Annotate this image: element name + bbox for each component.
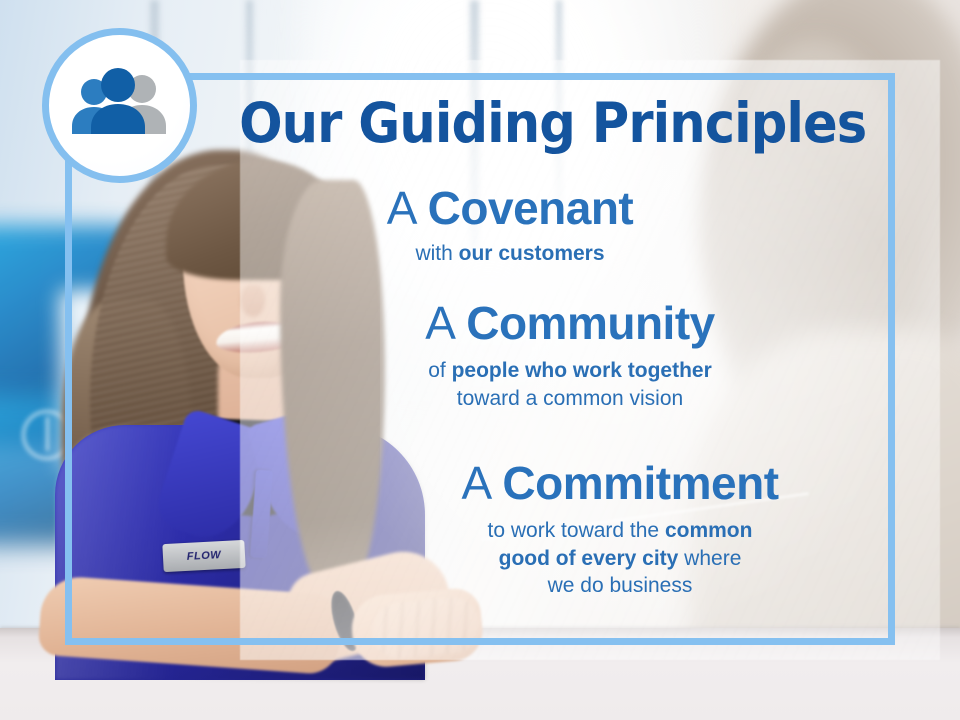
detail-bold: people who work together xyxy=(452,359,712,382)
detail-pre: with xyxy=(415,242,458,265)
poster-canvas: FLOW FLOW xyxy=(0,0,960,720)
poster-text: Our Guiding Principles A Covenant with o… xyxy=(0,0,960,720)
principle-headline: A Community xyxy=(300,300,840,347)
principle-detail: with our customers xyxy=(250,240,770,268)
principle-detail: of people who work together toward a com… xyxy=(300,357,840,412)
detail-bold: common xyxy=(665,519,753,542)
principle-keyword: Commitment xyxy=(502,457,778,509)
principle-keyword: Covenant xyxy=(428,182,634,234)
principle-commitment: A Commitment to work toward the common g… xyxy=(340,460,900,600)
principle-headline: A Covenant xyxy=(250,185,770,232)
detail-pre: to work toward the xyxy=(488,519,665,542)
detail-line2: toward a common vision xyxy=(457,387,683,410)
principle-article: A xyxy=(461,457,502,509)
page-title: Our Guiding Principles xyxy=(239,96,853,151)
detail-line3: we do business xyxy=(548,574,693,597)
principle-keyword: Community xyxy=(466,297,715,349)
principle-article: A xyxy=(387,182,428,234)
detail-bold: our customers xyxy=(459,242,605,265)
principle-covenant: A Covenant with our customers xyxy=(250,185,770,268)
detail-pre: of xyxy=(428,359,451,382)
detail-post: where xyxy=(678,547,741,570)
detail-bold-line2: good of every city xyxy=(499,547,679,570)
principle-article: A xyxy=(425,297,466,349)
principle-detail: to work toward the common good of every … xyxy=(340,517,900,600)
principle-headline: A Commitment xyxy=(340,460,900,507)
principle-community: A Community of people who work together … xyxy=(300,300,840,412)
